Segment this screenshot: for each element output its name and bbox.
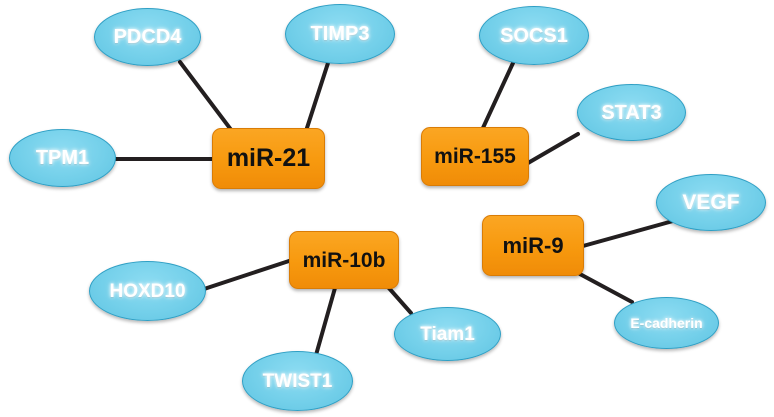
target-gene-node-label: TWIST1	[263, 372, 333, 391]
edge-stat3-mir155	[528, 134, 578, 163]
target-gene-node-tiam1[interactable]: Tiam1	[394, 307, 501, 361]
target-gene-node-ecadherin[interactable]: E-cadherin	[614, 297, 719, 349]
mirna-node-mir155[interactable]: miR-155	[421, 127, 529, 186]
edge-twist1-mir10b	[316, 288, 335, 355]
target-gene-node-stat3[interactable]: STAT3	[577, 84, 686, 141]
mirna-node-mir9[interactable]: miR-9	[482, 215, 584, 276]
target-gene-node-pdcd4[interactable]: PDCD4	[94, 8, 201, 66]
mirna-node-label: miR-9	[502, 235, 563, 257]
target-gene-node-vegf[interactable]: VEGF	[656, 174, 766, 231]
target-gene-node-socs1[interactable]: SOCS1	[479, 6, 589, 65]
mirna-node-label: miR-21	[227, 146, 310, 171]
target-gene-node-label: E-cadherin	[630, 316, 702, 330]
mirna-node-mir21[interactable]: miR-21	[212, 128, 325, 189]
target-gene-node-label: Tiam1	[420, 325, 475, 344]
edge-timp3-mir21	[306, 63, 328, 131]
target-gene-node-label: HOXD10	[109, 282, 185, 301]
mirna-node-mir10b[interactable]: miR-10b	[289, 231, 399, 289]
mirna-network-diagram: PDCD4TIMP3TPM1SOCS1STAT3VEGFE-cadherinHO…	[0, 0, 774, 417]
edge-vegf-mir9	[583, 221, 673, 246]
target-gene-node-label: TPM1	[36, 148, 89, 168]
target-gene-node-label: STAT3	[601, 103, 661, 123]
target-gene-node-label: PDCD4	[114, 27, 182, 47]
target-gene-node-timp3[interactable]: TIMP3	[285, 4, 395, 64]
target-gene-node-label: TIMP3	[311, 24, 370, 44]
target-gene-node-tpm1[interactable]: TPM1	[9, 129, 116, 187]
edge-tiam1-mir10b	[388, 287, 411, 313]
target-gene-node-label: SOCS1	[500, 26, 568, 46]
mirna-node-label: miR-10b	[303, 250, 386, 271]
target-gene-node-hoxd10[interactable]: HOXD10	[89, 261, 206, 321]
edge-pdcd4-mir21	[180, 62, 232, 131]
edge-ecadherin-mir9	[578, 273, 632, 302]
edge-hoxd10-mir10b	[201, 260, 292, 290]
target-gene-node-label: VEGF	[682, 192, 739, 213]
target-gene-node-twist1[interactable]: TWIST1	[242, 351, 353, 411]
edge-socs1-mir155	[482, 63, 513, 130]
mirna-node-label: miR-155	[434, 146, 516, 167]
